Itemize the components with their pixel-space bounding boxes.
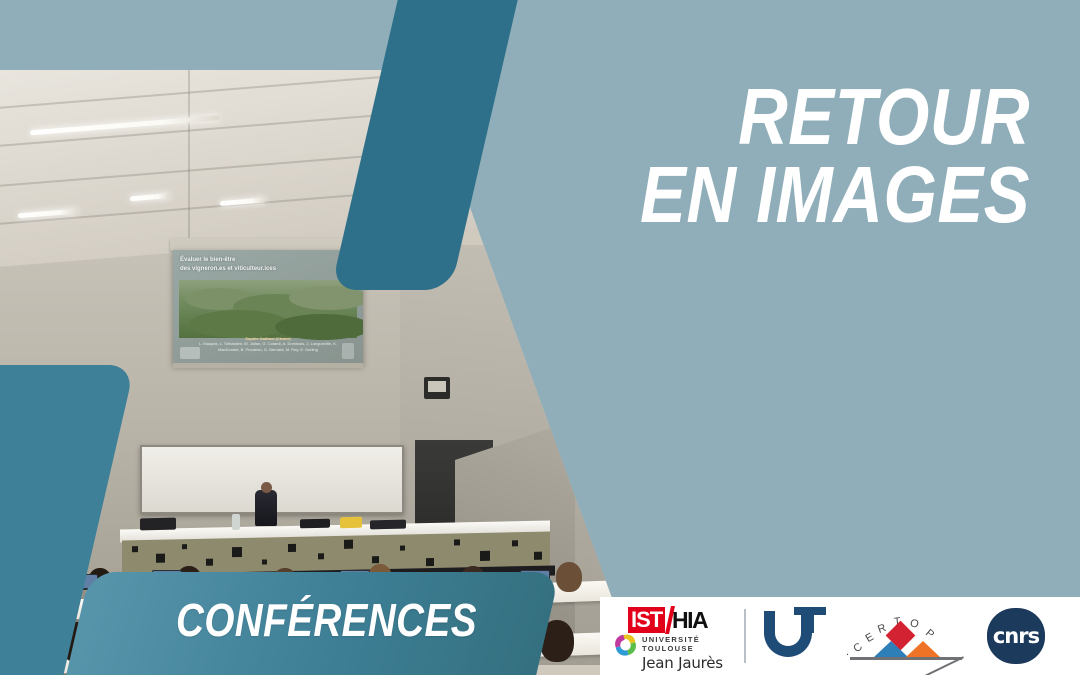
logo-bar: IST HIA UNIVERSITÉ TOULOUSE Jean Jaurès bbox=[600, 597, 1080, 675]
title-line-1: RETOUR bbox=[626, 78, 1030, 156]
category-label: CONFÉRENCES bbox=[176, 597, 477, 643]
isthia-hia-text: HIA bbox=[672, 607, 707, 633]
slide-title-line2: des vigneron.es et viticulteur.ices bbox=[180, 265, 356, 274]
logo-divider bbox=[744, 609, 746, 663]
universite-toulouse-line: UNIVERSITÉ TOULOUSE bbox=[642, 635, 734, 653]
slide-credits-1: L. Maupas, L. Sebastien, M. Julian, G. C… bbox=[199, 341, 286, 346]
speaker-head bbox=[261, 482, 272, 493]
logo-isthia: IST HIA UNIVERSITÉ TOULOUSE Jean Jaurès bbox=[614, 605, 734, 667]
cnrs-circle: cnrs bbox=[987, 608, 1045, 664]
certop-triangle-orange bbox=[906, 641, 940, 657]
slide-logo-cnrs bbox=[180, 347, 200, 359]
logo-certop: . C E R T O P bbox=[844, 604, 972, 668]
slide-credits-3: Bernard, M. Roy, E. Durling bbox=[269, 347, 318, 352]
jean-jaures-line: Jean Jaurès bbox=[642, 654, 734, 672]
projection-screen-bottom-bar bbox=[173, 363, 363, 368]
jean-jaures-flower-icon bbox=[612, 631, 642, 661]
page-title: RETOUR EN IMAGES bbox=[560, 78, 1030, 234]
poster-canvas: Évaluer le bien-être des vigneron.es et … bbox=[0, 0, 1080, 675]
projection-screen: Évaluer le bien-être des vigneron.es et … bbox=[173, 250, 363, 365]
title-line-2: EN IMAGES bbox=[626, 156, 1030, 234]
ut-letter-u bbox=[764, 611, 812, 657]
logo-universite-toulouse bbox=[756, 605, 834, 667]
isthia-ist-text: IST bbox=[628, 607, 665, 633]
cnrs-text: cnrs bbox=[987, 608, 1045, 664]
certop-triangle-blue bbox=[874, 641, 908, 657]
certop-baseline bbox=[850, 657, 962, 660]
ut-letter-t-stem bbox=[806, 607, 814, 633]
speaker-body bbox=[255, 490, 277, 526]
slide-logo-secondary bbox=[342, 343, 354, 359]
slide-title-line1: Évaluer le bien-être bbox=[180, 256, 356, 265]
wall-sign bbox=[424, 377, 450, 399]
slide-landscape-image bbox=[179, 280, 357, 338]
logo-cnrs: cnrs bbox=[982, 604, 1056, 668]
